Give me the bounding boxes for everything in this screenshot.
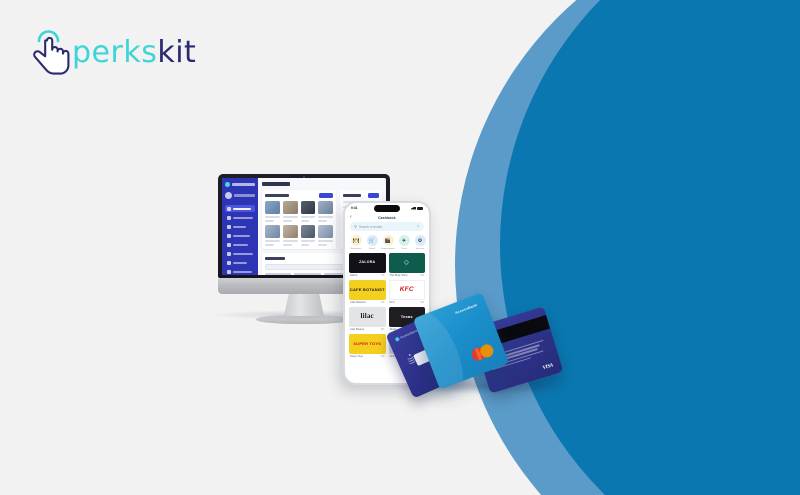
sidebar-item-announcements[interactable]	[225, 214, 255, 221]
search-icon: ⚲	[354, 224, 357, 229]
retail-icon: 🛒	[367, 235, 378, 246]
category-label: Travel	[397, 248, 411, 250]
sidebar-item-communications[interactable]	[225, 250, 255, 257]
webcam-icon	[303, 176, 305, 178]
vendor-name: Super Toys	[350, 355, 363, 358]
category-entertainment[interactable]: 🎬 Entertainment	[381, 235, 395, 250]
services-icon: ⚙	[415, 235, 426, 246]
sidebar-item-reports[interactable]	[225, 259, 255, 266]
employees-title	[265, 257, 285, 260]
hand-pointer-icon	[28, 26, 74, 76]
dynamic-island	[374, 205, 400, 212]
announcements-grid	[265, 201, 333, 246]
sidebar-brand-icon	[225, 182, 230, 187]
megaphone-icon	[227, 216, 231, 220]
phone-header: ‹ Cashback	[345, 213, 429, 222]
sidebar-item-label	[233, 208, 251, 210]
announcement-card[interactable]	[265, 201, 280, 222]
vendor-logo: SUPER TOYS	[353, 342, 381, 346]
vendor-logo: ZALORA	[359, 261, 375, 265]
phone-page-title: Cashback	[356, 216, 418, 220]
vendor-name: Cafe Botanist	[350, 301, 366, 304]
sidebar-user[interactable]	[225, 192, 255, 199]
announcement-card[interactable]	[283, 225, 298, 246]
chat-icon	[227, 252, 231, 256]
status-indicators	[411, 207, 423, 210]
mail-icon	[227, 234, 231, 238]
category-services[interactable]: ⚙ Services	[413, 235, 427, 250]
sidebar-item-label	[233, 253, 253, 255]
sidebar-item-label	[233, 235, 250, 237]
dashboard-sidebar	[222, 178, 258, 275]
bell-icon	[227, 270, 231, 274]
sidebar-item-label	[233, 262, 247, 264]
sidebar-item-rewards[interactable]	[225, 241, 255, 248]
announcement-card[interactable]	[318, 201, 333, 222]
sidebar-item-dashboard[interactable]	[225, 205, 255, 212]
gift-icon	[227, 243, 231, 247]
card-brand: AccessBank	[395, 328, 419, 341]
category-row: 🍽 Restaurant 🛒 Retail 🎬 Entertainment ✈ …	[345, 235, 429, 253]
promo-banner: perkskit	[0, 0, 800, 495]
messages-new-button[interactable]	[368, 193, 379, 198]
entertainment-icon: 🎬	[383, 235, 394, 246]
messages-header	[343, 193, 379, 198]
vendor-cashback: 9%	[381, 355, 384, 358]
announcement-card[interactable]	[265, 225, 280, 246]
category-label: Entertainment	[381, 248, 395, 250]
sidebar-brand-label	[232, 183, 255, 186]
announcement-card[interactable]	[301, 225, 316, 246]
vendor-logo: KFC	[400, 287, 414, 294]
column-header	[294, 273, 320, 275]
vendor-tile[interactable]: KFC KFC4%	[389, 280, 426, 305]
chevron-left-icon[interactable]: ‹	[350, 215, 352, 220]
category-travel[interactable]: ✈ Travel	[397, 235, 411, 250]
vendor-tile[interactable]: lilac Lilac Beauty8%	[349, 307, 386, 332]
signal-bars-icon	[411, 207, 416, 210]
messages-title	[343, 194, 361, 197]
visa-icon: VISA	[542, 363, 554, 371]
sidebar-user-label	[234, 194, 255, 197]
brand-word-kit: kit	[157, 35, 196, 70]
sidebar-item-label	[233, 244, 248, 246]
announcements-header	[265, 193, 333, 198]
monitor-stand	[284, 294, 324, 316]
vendor-name: Zalora	[350, 274, 357, 277]
tag-icon	[227, 225, 231, 229]
vendor-search-bar[interactable]: ⚲ Search a vendor	[350, 222, 424, 231]
sidebar-item-messages[interactable]	[225, 232, 255, 239]
category-label: Restaurant	[349, 248, 363, 250]
mastercard-icon	[470, 343, 495, 363]
bank-name: AccessBank	[400, 328, 419, 339]
announcement-card[interactable]	[283, 201, 298, 222]
column-header	[265, 273, 291, 275]
travel-icon: ✈	[399, 235, 410, 246]
vendor-tile[interactable]: ZALORA Zalora7%	[349, 253, 386, 278]
filter-icon[interactable]	[416, 225, 420, 229]
vendor-logo: ○	[404, 258, 410, 267]
announcement-card[interactable]	[301, 201, 316, 222]
vendor-tile[interactable]: SUPER TOYS Super Toys9%	[349, 334, 386, 359]
brand-word-perks: perks	[72, 35, 157, 70]
status-time: 9:41	[351, 206, 357, 210]
chart-icon	[227, 261, 231, 265]
vendor-cashback: 5%	[421, 274, 424, 277]
vendor-name: The Body Shop	[390, 274, 408, 277]
vendor-cashback: 6%	[381, 301, 384, 304]
vendor-cashback: 7%	[381, 274, 384, 277]
announcements-view-all-button[interactable]	[319, 193, 333, 198]
vendor-logo: Texas	[401, 315, 413, 319]
announcement-card[interactable]	[318, 225, 333, 246]
sidebar-brand	[225, 182, 255, 187]
sidebar-item-label	[233, 217, 253, 219]
category-label: Services	[413, 248, 427, 250]
vendor-logo: CAFE BOTANIST	[350, 288, 385, 292]
brand-logo[interactable]: perkskit	[28, 26, 200, 76]
phone-status-bar: 9:41	[345, 203, 429, 213]
vendor-name: KFC	[390, 301, 395, 304]
search-placeholder: Search a vendor	[359, 225, 414, 229]
sidebar-item-label	[233, 226, 246, 228]
vendor-tile[interactable]: ○ The Body Shop5%	[389, 253, 426, 278]
sidebar-item-brands[interactable]	[225, 223, 255, 230]
category-restaurant[interactable]: 🍽 Restaurant	[349, 235, 363, 250]
dashboard-icon	[227, 207, 231, 211]
announcements-panel	[262, 190, 336, 249]
vendor-name: Lilac Beauty	[350, 328, 364, 331]
vendor-cashback: 4%	[421, 301, 424, 304]
sidebar-item-notifications[interactable]	[225, 268, 255, 275]
vendor-cashback: 8%	[381, 328, 384, 331]
announcements-title	[265, 194, 289, 197]
vendor-tile[interactable]: CAFE BOTANIST Cafe Botanist6%	[349, 280, 386, 305]
category-label: Retail	[365, 248, 379, 250]
page-title	[262, 182, 290, 186]
bank-logo-icon	[395, 337, 400, 342]
category-retail[interactable]: 🛒 Retail	[365, 235, 379, 250]
sidebar-item-label	[233, 271, 252, 273]
brand-wordmark: perkskit	[72, 38, 196, 68]
avatar	[225, 192, 232, 199]
battery-icon	[417, 207, 423, 210]
bank-name: AccessBank	[455, 303, 478, 315]
restaurant-icon: 🍽	[351, 235, 362, 246]
vendor-logo: lilac	[361, 313, 374, 320]
